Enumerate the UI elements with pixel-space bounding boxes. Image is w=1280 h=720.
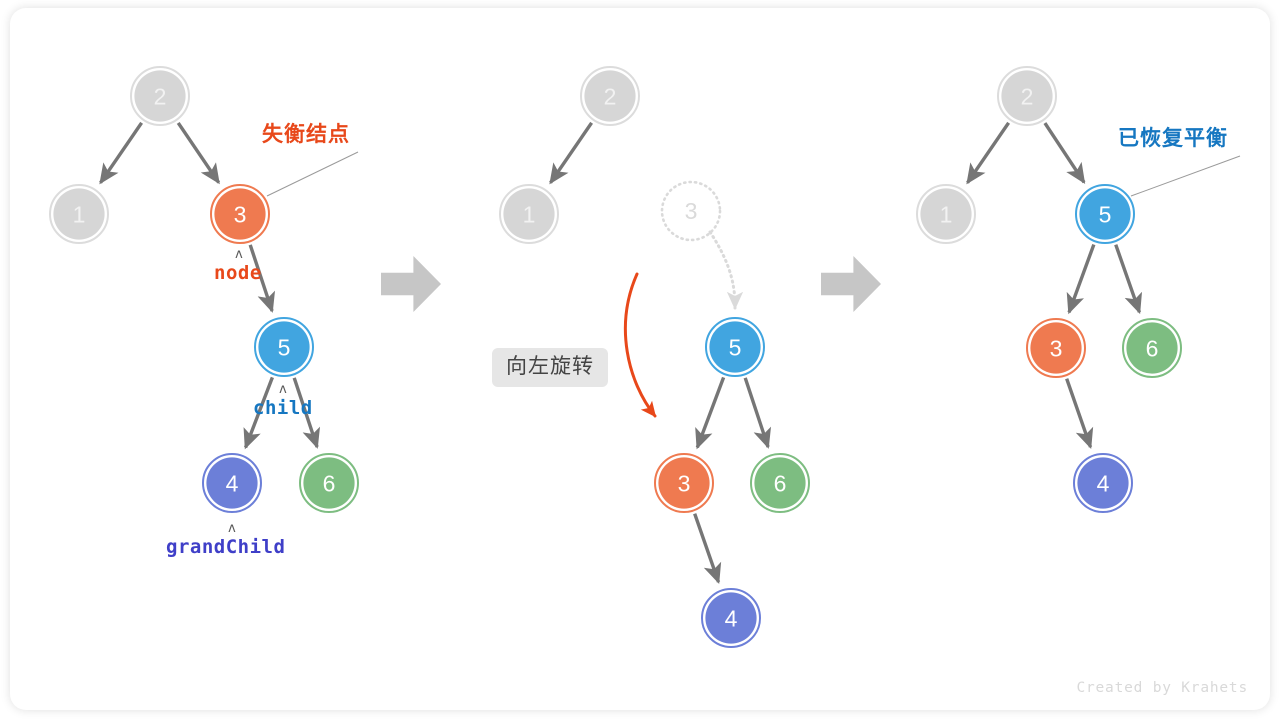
tree-node-value: 5 xyxy=(729,335,742,361)
diagram-canvas: 3 213546215364215364 xyxy=(0,0,1280,720)
tree-node-value: 2 xyxy=(1021,84,1034,110)
rebalanced-label: 已恢复平衡 xyxy=(1118,128,1228,149)
tree-node-value: 4 xyxy=(725,606,738,632)
tree-node: 3 xyxy=(1027,319,1085,377)
tree-edge xyxy=(697,377,723,447)
tree-edge xyxy=(101,123,142,183)
tree-edge xyxy=(178,123,218,183)
unbalanced-node-label: 失衡结点 xyxy=(262,124,350,145)
ghost-move-arrow xyxy=(710,232,735,308)
rotation-arrow xyxy=(625,274,655,416)
tree-edge xyxy=(695,514,719,582)
tree-edge xyxy=(1067,379,1091,447)
tree-node: 4 xyxy=(702,589,760,647)
tree-node-value: 1 xyxy=(73,202,86,228)
tree-edge xyxy=(1069,245,1094,313)
tree-node-value: 6 xyxy=(323,471,336,497)
tree-node-value: 4 xyxy=(226,471,239,497)
pointer-caret-icon: ʌ xyxy=(279,383,287,396)
tree-node-value: 3 xyxy=(678,471,691,497)
tree-edge xyxy=(745,378,768,447)
tree-edge xyxy=(551,123,592,183)
tree-node: 2 xyxy=(998,67,1056,125)
tree-node-value: 4 xyxy=(1097,471,1110,497)
tree-node: 5 xyxy=(706,318,764,376)
tree-node: 2 xyxy=(581,67,639,125)
rotation-direction-arrow xyxy=(625,274,655,416)
tree-node: 1 xyxy=(500,185,558,243)
ghost-node-label: 3 xyxy=(685,198,698,224)
annotation-leader-lines xyxy=(267,152,1240,196)
node-pointer-label: node xyxy=(214,264,262,283)
tree-edge xyxy=(1116,245,1140,312)
rotate-left-label: 向左旋转 xyxy=(492,348,608,387)
tree-node: 2 xyxy=(131,67,189,125)
credit-text: Created by Krahets xyxy=(1076,680,1248,696)
figure-root: 3 213546215364215364 失衡结点ʌnodeʌchildʌgra… xyxy=(0,0,1280,720)
tree-node-value: 2 xyxy=(604,84,617,110)
tree-node-value: 1 xyxy=(940,202,953,228)
tree-node-value: 6 xyxy=(774,471,787,497)
tree-node: 4 xyxy=(1074,454,1132,512)
tree-node: 6 xyxy=(1123,319,1181,377)
step-arrows xyxy=(381,256,881,312)
tree-node-value: 5 xyxy=(1099,202,1112,228)
child-pointer-label: child xyxy=(253,399,313,418)
annotation-leader-line xyxy=(1131,156,1240,196)
grandchild-pointer-label: grandChild xyxy=(166,538,285,557)
tree-node-value: 3 xyxy=(1050,336,1063,362)
ghost-elements: 3 xyxy=(662,182,735,308)
tree-node-value: 5 xyxy=(278,335,291,361)
tree-nodes: 213546215364215364 xyxy=(50,67,1181,647)
tree-node: 4 xyxy=(203,454,261,512)
pointer-caret-icon: ʌ xyxy=(228,522,236,535)
tree-node: 1 xyxy=(917,185,975,243)
tree-node-value: 6 xyxy=(1146,336,1159,362)
annotation-leader-line xyxy=(267,152,358,196)
tree-edge xyxy=(968,123,1009,183)
tree-node-value: 3 xyxy=(234,202,247,228)
tree-node: 1 xyxy=(50,185,108,243)
tree-node: 6 xyxy=(751,454,809,512)
tree-node: 6 xyxy=(300,454,358,512)
pointer-caret-icon: ʌ xyxy=(235,248,243,261)
step-arrow-2 xyxy=(821,256,881,312)
tree-node: 5 xyxy=(1076,185,1134,243)
tree-node: 5 xyxy=(255,318,313,376)
tree-node: 3 xyxy=(211,185,269,243)
tree-node-value: 1 xyxy=(523,202,536,228)
step-arrow-1 xyxy=(381,256,441,312)
tree-node: 3 xyxy=(655,454,713,512)
tree-edge xyxy=(1045,123,1084,182)
tree-node-value: 2 xyxy=(154,84,167,110)
